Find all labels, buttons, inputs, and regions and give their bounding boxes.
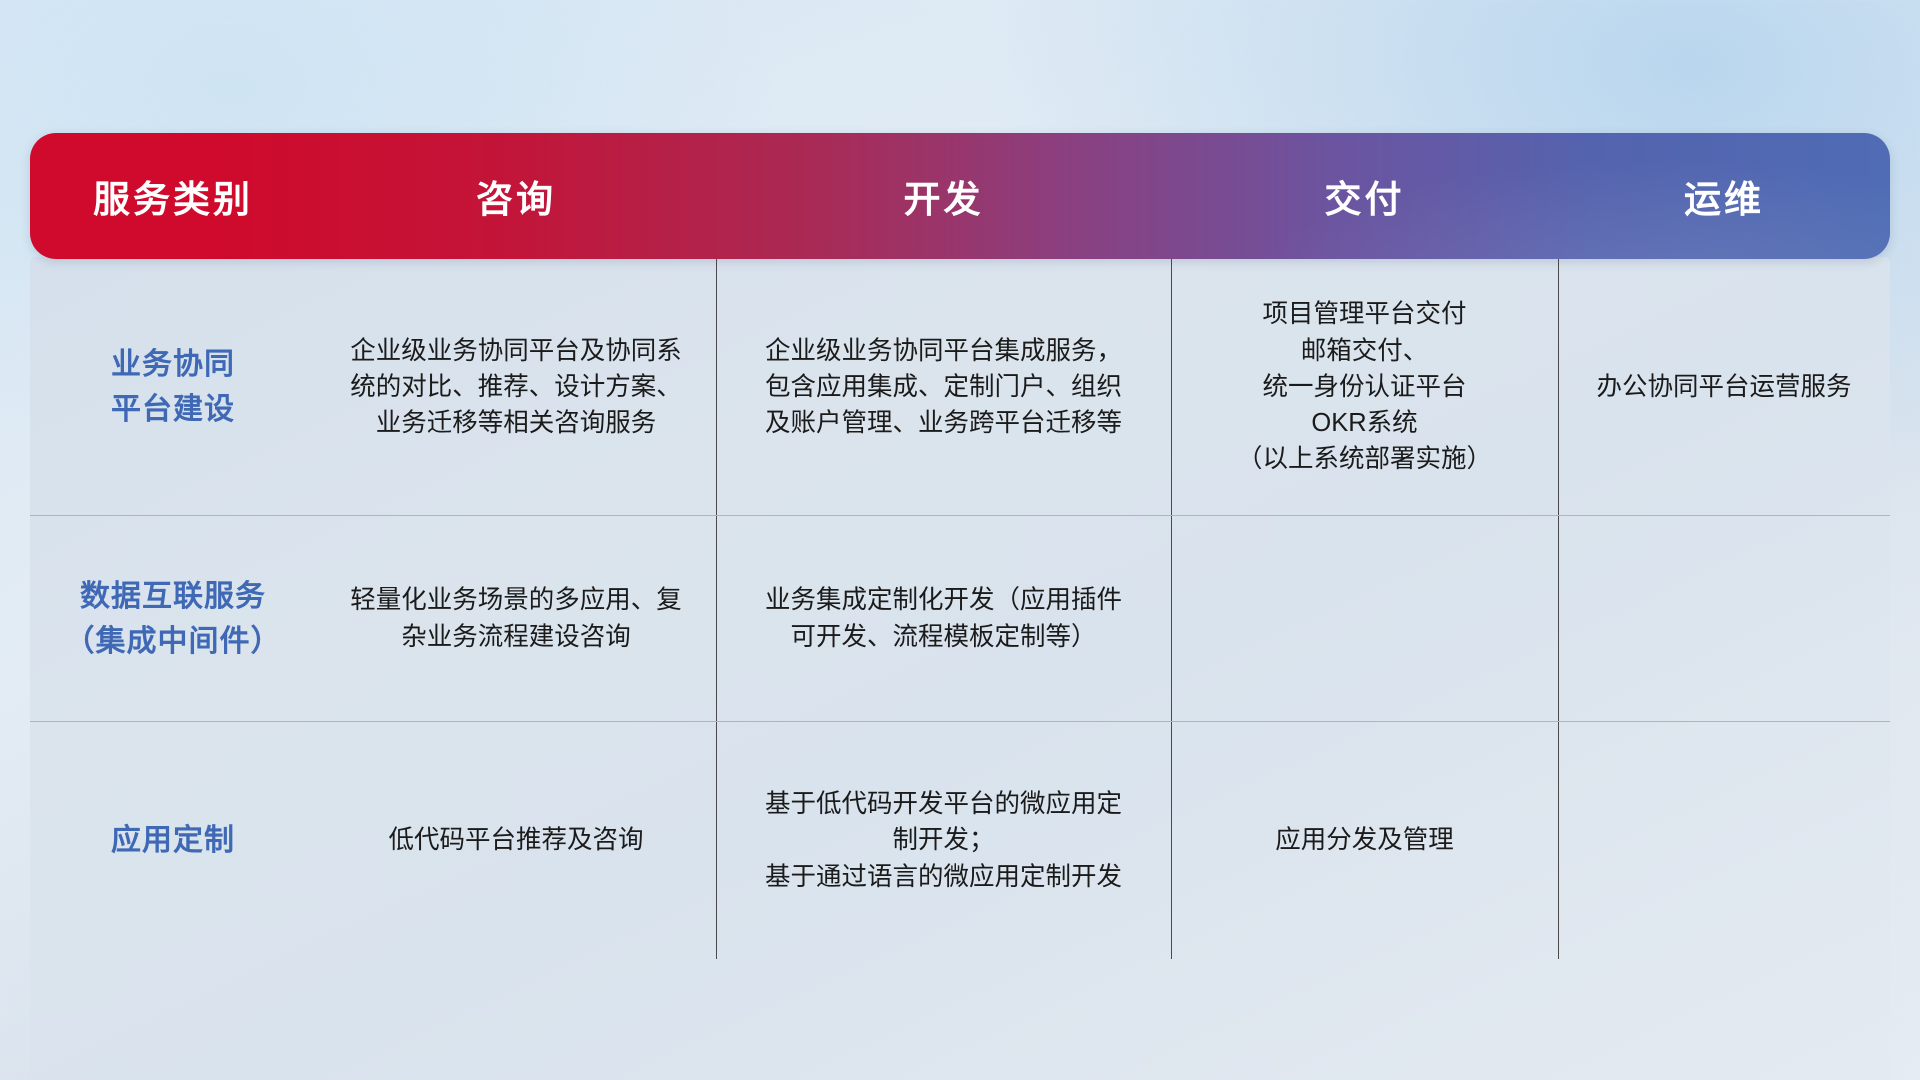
row-delivery-cell: 项目管理平台交付邮箱交付、统一身份认证平台OKR系统（以上系统部署实施） [1171,259,1558,515]
row-consulting-cell: 企业级业务协同平台及协同系统的对比、推荐、设计方案、业务迁移等相关咨询服务 [316,259,716,515]
cell-text: 企业级业务协同平台集成服务，包含应用集成、定制门户、组织及账户管理、业务跨平台迁… [765,333,1122,442]
column-header-consulting: 咨询 [316,169,716,223]
table-row: 数据互联服务（集成中间件） 轻量化业务场景的多应用、复杂业务流程建设咨询 业务集… [30,515,1890,721]
row-category-cell: 数据互联服务（集成中间件） [30,516,316,721]
cell-text: 办公协同平台运营服务 [1596,369,1851,405]
row-operation-cell [1558,722,1890,959]
cell-text: 应用分发及管理 [1275,822,1454,858]
column-header-operation: 运维 [1558,169,1890,223]
row-consulting-cell: 低代码平台推荐及咨询 [316,722,716,959]
service-matrix-table: 服务类别 咨询 开发 交付 运维 业务协同平台建设 企业级业务协同平台及协同系统… [30,133,1890,958]
row-category-label: 数据互联服务（集成中间件） [65,574,282,664]
column-header-development: 开发 [716,169,1171,223]
row-operation-cell [1558,516,1890,721]
slide-canvas: 服务类别 咨询 开发 交付 运维 业务协同平台建设 企业级业务协同平台及协同系统… [0,0,1920,1080]
row-development-cell: 基于低代码开发平台的微应用定制开发；基于通过语言的微应用定制开发 [716,722,1171,959]
row-category-label: 应用定制 [111,818,235,863]
row-category-label: 业务协同平台建设 [111,342,235,432]
row-category-cell: 应用定制 [30,722,316,959]
row-operation-cell: 办公协同平台运营服务 [1558,259,1890,515]
row-development-cell: 业务集成定制化开发（应用插件可开发、流程模板定制等） [716,516,1171,721]
row-delivery-cell [1171,516,1558,721]
cell-text: 基于低代码开发平台的微应用定制开发；基于通过语言的微应用定制开发 [765,786,1122,895]
row-consulting-cell: 轻量化业务场景的多应用、复杂业务流程建设咨询 [316,516,716,721]
table-row: 业务协同平台建设 企业级业务协同平台及协同系统的对比、推荐、设计方案、业务迁移等… [30,259,1890,515]
cell-text: 项目管理平台交付邮箱交付、统一身份认证平台OKR系统（以上系统部署实施） [1237,296,1492,477]
cell-text: 轻量化业务场景的多应用、复杂业务流程建设咨询 [350,582,682,654]
table-row: 应用定制 低代码平台推荐及咨询 基于低代码开发平台的微应用定制开发；基于通过语言… [30,721,1890,959]
table-header-row: 服务类别 咨询 开发 交付 运维 [30,133,1890,259]
row-delivery-cell: 应用分发及管理 [1171,722,1558,959]
table-body: 业务协同平台建设 企业级业务协同平台及协同系统的对比、推荐、设计方案、业务迁移等… [30,259,1890,959]
row-category-cell: 业务协同平台建设 [30,259,316,515]
cell-text: 企业级业务协同平台及协同系统的对比、推荐、设计方案、业务迁移等相关咨询服务 [350,333,682,442]
cell-text: 业务集成定制化开发（应用插件可开发、流程模板定制等） [765,582,1122,654]
row-development-cell: 企业级业务协同平台集成服务，包含应用集成、定制门户、组织及账户管理、业务跨平台迁… [716,259,1171,515]
column-header-category: 服务类别 [30,169,316,223]
column-header-delivery: 交付 [1171,169,1558,223]
cell-text: 低代码平台推荐及咨询 [388,822,643,858]
